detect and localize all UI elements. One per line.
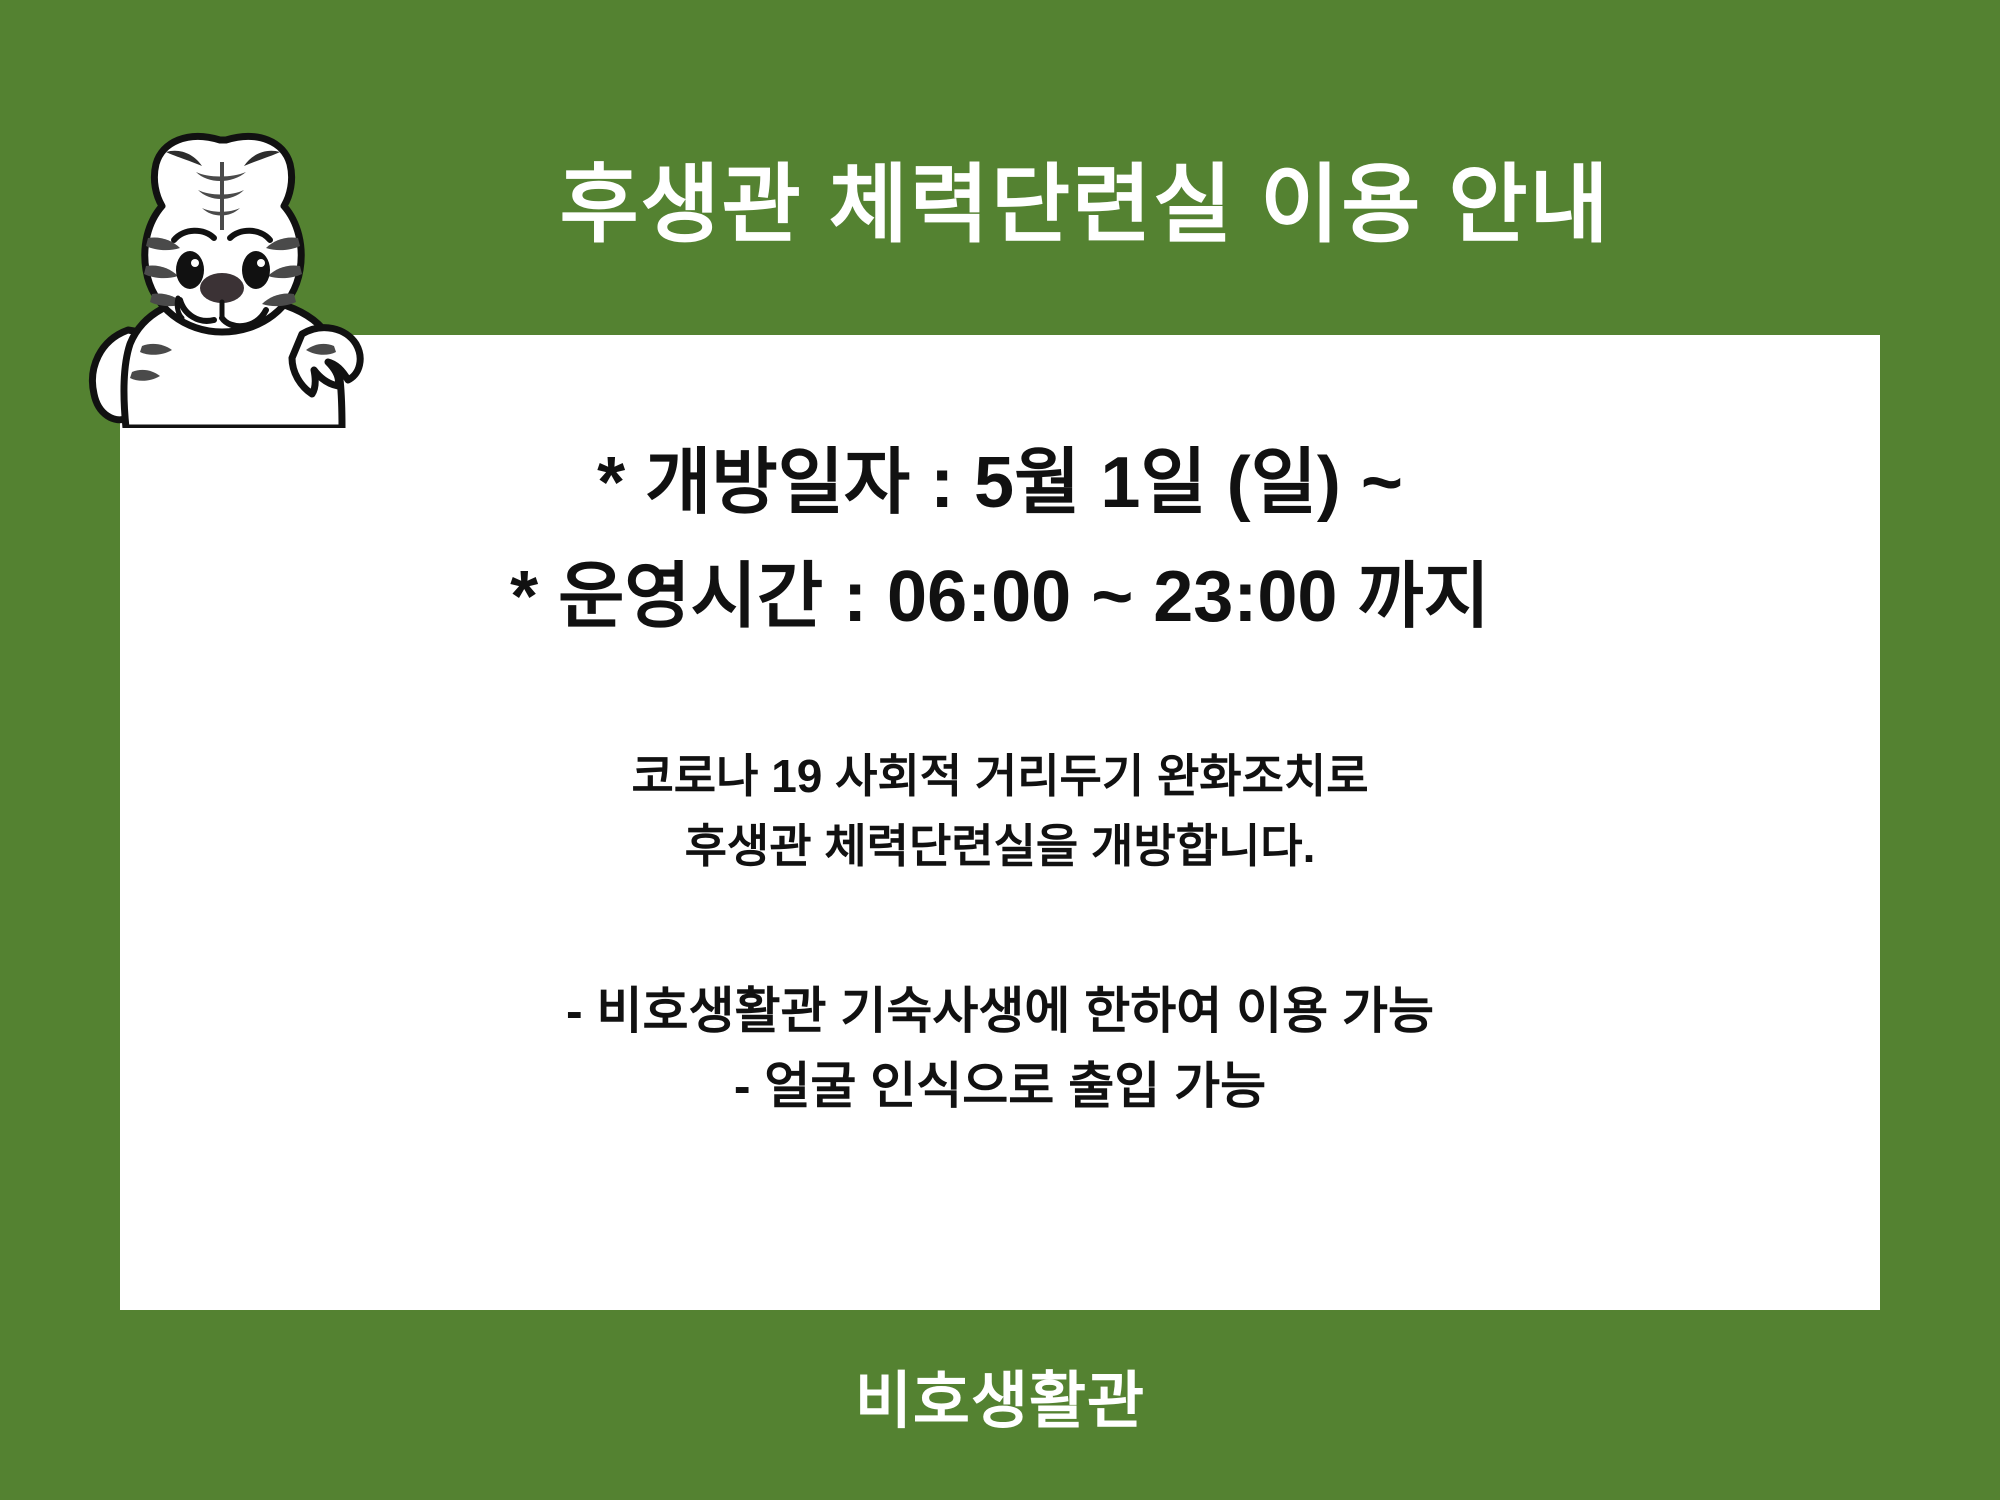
- white-tiger-mascot-icon: [70, 118, 370, 428]
- notice-bullets: - 비호생활관 기숙사생에 한하여 이용 가능 - 얼굴 인식으로 출입 가능: [566, 974, 1434, 1124]
- headline-open-date: * 개방일자 : 5월 1일 (일) ~: [597, 431, 1403, 535]
- bullet-face-recognition: - 얼굴 인식으로 출입 가능: [566, 1049, 1434, 1124]
- paragraph-line-1: 코로나 19 사회적 거리두기 완화조치로: [631, 742, 1368, 812]
- footer: 비호생활관: [0, 1350, 2000, 1440]
- bullet-residents-only: - 비호생활관 기숙사생에 한하여 이용 가능: [566, 974, 1434, 1049]
- notice-content-panel: * 개방일자 : 5월 1일 (일) ~ * 운영시간 : 06:00 ~ 23…: [120, 335, 1880, 1310]
- footer-organization-name: 비호생활관: [855, 1367, 1145, 1436]
- notice-poster: 후생관 체력단련실 이용 안내: [0, 0, 2000, 1500]
- page-title: 후생관 체력단련실 이용 안내: [559, 160, 1610, 250]
- paragraph-line-2: 후생관 체력단련실을 개방합니다.: [631, 812, 1368, 882]
- headline-operating-hours: * 운영시간 : 06:00 ~ 23:00 까지: [510, 545, 1490, 649]
- notice-paragraph: 코로나 19 사회적 거리두기 완화조치로 후생관 체력단련실을 개방합니다.: [631, 742, 1368, 882]
